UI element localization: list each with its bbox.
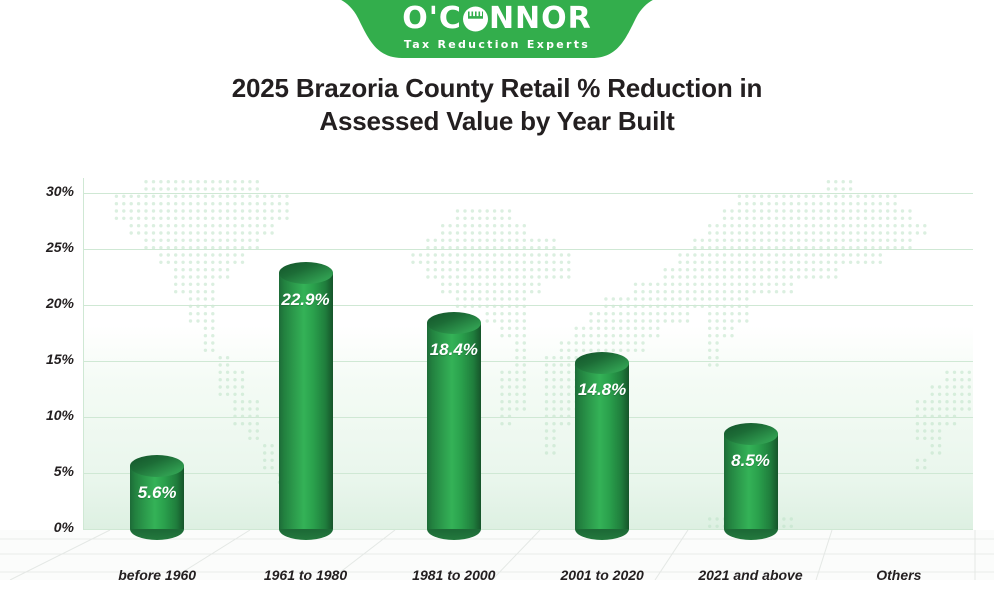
chart-title: 2025 Brazoria County Retail % Reduction … (0, 72, 994, 138)
y-axis-tick-label: 30% (12, 183, 74, 199)
y-axis-tick-label: 5% (12, 463, 74, 479)
y-axis-tick-label: 10% (12, 407, 74, 423)
brand-banner (330, 0, 664, 60)
bar-value-label: 8.5% (724, 451, 778, 471)
bar-value-label: 18.4% (427, 340, 481, 360)
bar-cylinder[interactable]: 5.6% (130, 455, 184, 540)
y-axis-tick-label: 20% (12, 295, 74, 311)
bar-cylinder[interactable]: 8.5% (724, 423, 778, 540)
gridline (83, 417, 973, 418)
x-axis-tick-label: Others (825, 567, 973, 583)
gridline (83, 305, 973, 306)
bar-cylinder[interactable]: 18.4% (427, 312, 481, 540)
bar-cylinder[interactable]: 14.8% (575, 352, 629, 540)
gridline (83, 249, 973, 250)
bar-value-label: 22.9% (279, 290, 333, 310)
bar-top-ellipse (279, 262, 333, 284)
plot-area (83, 178, 973, 530)
brand-tagline: Tax Reduction Experts (330, 38, 664, 51)
bar-value-label: 5.6% (130, 483, 184, 503)
gridline (83, 361, 973, 362)
gridline (83, 473, 973, 474)
bar-top-ellipse (427, 312, 481, 334)
y-axis-tick-label: 15% (12, 351, 74, 367)
y-axis-line (83, 178, 84, 530)
y-axis-tick-label: 0% (12, 519, 74, 535)
bar-value-label: 14.8% (575, 380, 629, 400)
bar-cylinder[interactable]: 22.9% (279, 262, 333, 540)
chart-title-line-1: 2025 Brazoria County Retail % Reduction … (0, 72, 994, 105)
chart-canvas: O'CNNOR Tax Reduction Experts 2025 Brazo… (0, 0, 994, 612)
x-axis-tick-label: 2021 and above (676, 567, 824, 583)
bar-top-ellipse (724, 423, 778, 445)
bar-body (724, 434, 778, 529)
chart-title-line-2: Assessed Value by Year Built (0, 105, 994, 138)
x-axis-tick-label: 1961 to 1980 (231, 567, 379, 583)
x-axis-tick-label: before 1960 (83, 567, 231, 583)
world-map-dot-pattern (83, 178, 973, 530)
x-axis-tick-label: 1981 to 2000 (380, 567, 528, 583)
gridline (83, 193, 973, 194)
y-axis-tick-label: 25% (12, 239, 74, 255)
x-axis-tick-label: 2001 to 2020 (528, 567, 676, 583)
bar-body (279, 273, 333, 529)
